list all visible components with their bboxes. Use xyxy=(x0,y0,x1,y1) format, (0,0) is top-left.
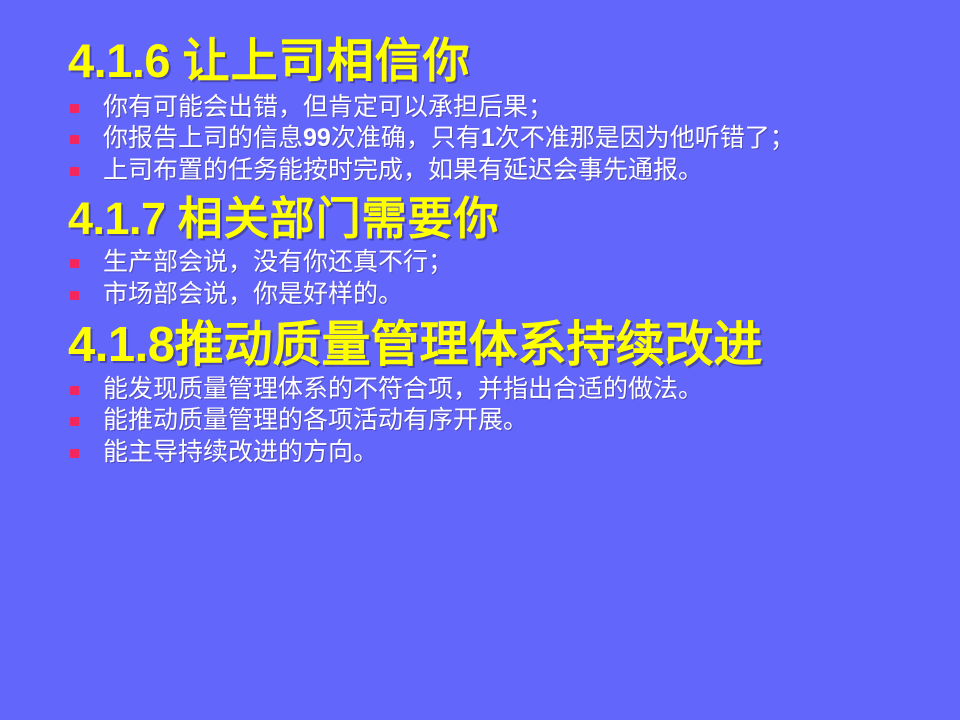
list-item-text-part: 生产部会说，没有你还真不行； xyxy=(103,247,453,276)
list-item-text: 能主导持续改进的方向。 xyxy=(103,437,378,466)
bullet-list-416: 你有可能会出错，但肯定可以承担后果； 你报告上司的信息99次准确，只有1次不准那… xyxy=(0,92,960,186)
bullet-marker-icon xyxy=(70,104,79,113)
section-heading-418: 4.1.8推动质量管理体系持续改进 xyxy=(0,319,960,372)
bullet-list-418: 能发现质量管理体系的不符合项，并指出合适的做法。 能推动质量管理的各项活动有序开… xyxy=(0,374,960,468)
list-item-text-part: 次不准那是因为他听错了； xyxy=(495,123,795,152)
slide-content: 4.1.6 让上司相信你 你有可能会出错，但肯定可以承担后果； 你报告上司的信息… xyxy=(0,36,960,468)
list-item-text: 市场部会说，你是好样的。 xyxy=(103,279,403,308)
bullet-marker-icon xyxy=(70,417,79,426)
section-number-418: 4.1.8 xyxy=(68,318,174,372)
list-item: 能主导持续改进的方向。 xyxy=(0,437,960,468)
section-separator-416 xyxy=(170,34,183,87)
list-item-text-part: 你有可能会出错，但肯定可以承担后果； xyxy=(103,92,553,121)
section-number-416: 4.1.6 xyxy=(68,34,170,87)
bullet-marker-icon xyxy=(70,259,79,268)
list-item-text-part: 市场部会说，你是好样的。 xyxy=(103,279,403,308)
list-item: 你报告上司的信息99次准确，只有1次不准那是因为他听错了； xyxy=(0,123,960,154)
list-item: 市场部会说，你是好样的。 xyxy=(0,279,960,310)
list-item-text: 能发现质量管理体系的不符合项，并指出合适的做法。 xyxy=(103,374,703,403)
list-item-text-part: 能发现质量管理体系的不符合项，并指出合适的做法。 xyxy=(103,374,703,403)
list-item-text: 你报告上司的信息99次准确，只有1次不准那是因为他听错了； xyxy=(103,123,795,152)
slide-canvas: 4.1.6 让上司相信你 你有可能会出错，但肯定可以承担后果； 你报告上司的信息… xyxy=(0,0,960,720)
bullet-marker-icon xyxy=(70,291,79,300)
section-heading-417: 4.1.7 相关部门需要你 xyxy=(0,195,960,243)
list-item: 能发现质量管理体系的不符合项，并指出合适的做法。 xyxy=(0,374,960,405)
list-item-text-part: 你报告上司的信息 xyxy=(103,123,303,152)
section-separator-417 xyxy=(166,193,178,244)
list-item-text-part: 能主导持续改进的方向。 xyxy=(103,437,378,466)
list-item: 能推动质量管理的各项活动有序开展。 xyxy=(0,405,960,436)
bullet-marker-icon xyxy=(70,135,79,144)
list-item-text: 能推动质量管理的各项活动有序开展。 xyxy=(103,405,528,434)
list-item-text-part: 能推动质量管理的各项活动有序开展。 xyxy=(103,405,528,434)
list-item: 你有可能会出错，但肯定可以承担后果； xyxy=(0,92,960,123)
section-number-417: 4.1.7 xyxy=(68,193,166,244)
section-title-417: 相关部门需要你 xyxy=(178,192,500,245)
list-item-text-part: 上司布置的任务能按时完成，如果有延迟会事先通报。 xyxy=(103,155,703,184)
bullet-marker-icon xyxy=(70,386,79,395)
list-item: 上司布置的任务能按时完成，如果有延迟会事先通报。 xyxy=(0,155,960,186)
list-item-text-part: 次准确，只有 xyxy=(331,123,481,152)
list-item: 生产部会说，没有你还真不行； xyxy=(0,247,960,278)
section-title-416: 让上司相信你 xyxy=(183,34,471,89)
section-heading-416: 4.1.6 让上司相信你 xyxy=(0,36,960,87)
list-item-emphasis: 1 xyxy=(481,124,495,152)
bullet-marker-icon xyxy=(70,449,79,458)
bullet-list-417: 生产部会说，没有你还真不行； 市场部会说，你是好样的。 xyxy=(0,247,960,309)
list-item-text: 你有可能会出错，但肯定可以承担后果； xyxy=(103,92,553,121)
list-item-text: 上司布置的任务能按时完成，如果有延迟会事先通报。 xyxy=(103,155,703,184)
list-item-text: 生产部会说，没有你还真不行； xyxy=(103,247,453,276)
section-title-418: 推动质量管理体系持续改进 xyxy=(174,315,762,373)
bullet-marker-icon xyxy=(70,167,79,176)
list-item-emphasis: 99 xyxy=(303,124,331,152)
